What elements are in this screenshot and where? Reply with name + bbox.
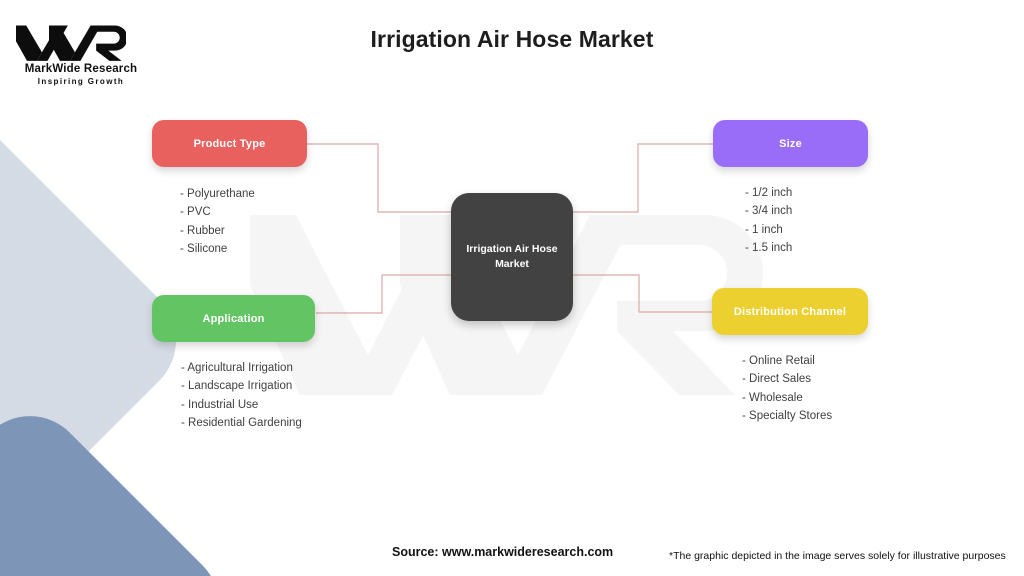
list-item: - Agricultural Irrigation: [181, 359, 315, 377]
connector-size: [573, 144, 713, 212]
center-node-line-2: Market: [495, 258, 529, 270]
category-items-distribution-channel: - Online Retail - Direct Sales - Wholesa…: [742, 352, 868, 425]
connector-distribution-channel: [573, 275, 712, 312]
list-item: - Polyurethane: [180, 185, 307, 203]
list-item: - PVC: [180, 203, 307, 221]
list-item: - 1.5 inch: [745, 239, 868, 257]
list-item: - Industrial Use: [181, 396, 315, 414]
list-item: - Online Retail: [742, 352, 868, 370]
category-header-product-type[interactable]: Product Type: [152, 120, 307, 167]
list-item: - Residential Gardening: [181, 414, 315, 432]
category-label-application: Application: [202, 313, 264, 325]
list-item: - Direct Sales: [742, 370, 868, 388]
connector-application: [316, 275, 451, 313]
list-item: - Specialty Stores: [742, 407, 868, 425]
category-size: Size - 1/2 inch - 3/4 inch - 1 inch - 1.…: [713, 120, 868, 257]
category-label-distribution-channel: Distribution Channel: [734, 306, 846, 318]
connector-product-type: [307, 144, 451, 212]
category-items-size: - 1/2 inch - 3/4 inch - 1 inch - 1.5 inc…: [745, 184, 868, 257]
category-items-product-type: - Polyurethane - PVC - Rubber - Silicone: [180, 185, 307, 258]
center-node-label: Irrigation Air Hose Market: [456, 242, 567, 272]
center-node-line-1: Irrigation Air Hose: [466, 243, 557, 255]
category-label-product-type: Product Type: [194, 138, 266, 150]
disclaimer-text: *The graphic depicted in the image serve…: [669, 550, 1006, 562]
list-item: - Silicone: [180, 240, 307, 258]
center-node: Irrigation Air Hose Market: [451, 193, 573, 321]
list-item: - Rubber: [180, 222, 307, 240]
category-header-application[interactable]: Application: [152, 295, 315, 342]
category-application: Application - Agricultural Irrigation - …: [152, 295, 315, 432]
list-item: - 1/2 inch: [745, 184, 868, 202]
infographic-canvas: MarkWide Research Inspiring Growth Irrig…: [0, 0, 1024, 576]
category-header-size[interactable]: Size: [713, 120, 868, 167]
category-distribution-channel: Distribution Channel - Online Retail - D…: [712, 288, 868, 425]
category-product-type: Product Type - Polyurethane - PVC - Rubb…: [152, 120, 307, 258]
list-item: - 1 inch: [745, 221, 868, 239]
source-text: Source: www.markwideresearch.com: [392, 545, 613, 559]
category-label-size: Size: [779, 138, 802, 150]
list-item: - Landscape Irrigation: [181, 377, 315, 395]
list-item: - Wholesale: [742, 389, 868, 407]
list-item: - 3/4 inch: [745, 202, 868, 220]
category-header-distribution-channel[interactable]: Distribution Channel: [712, 288, 868, 335]
category-items-application: - Agricultural Irrigation - Landscape Ir…: [181, 359, 315, 432]
